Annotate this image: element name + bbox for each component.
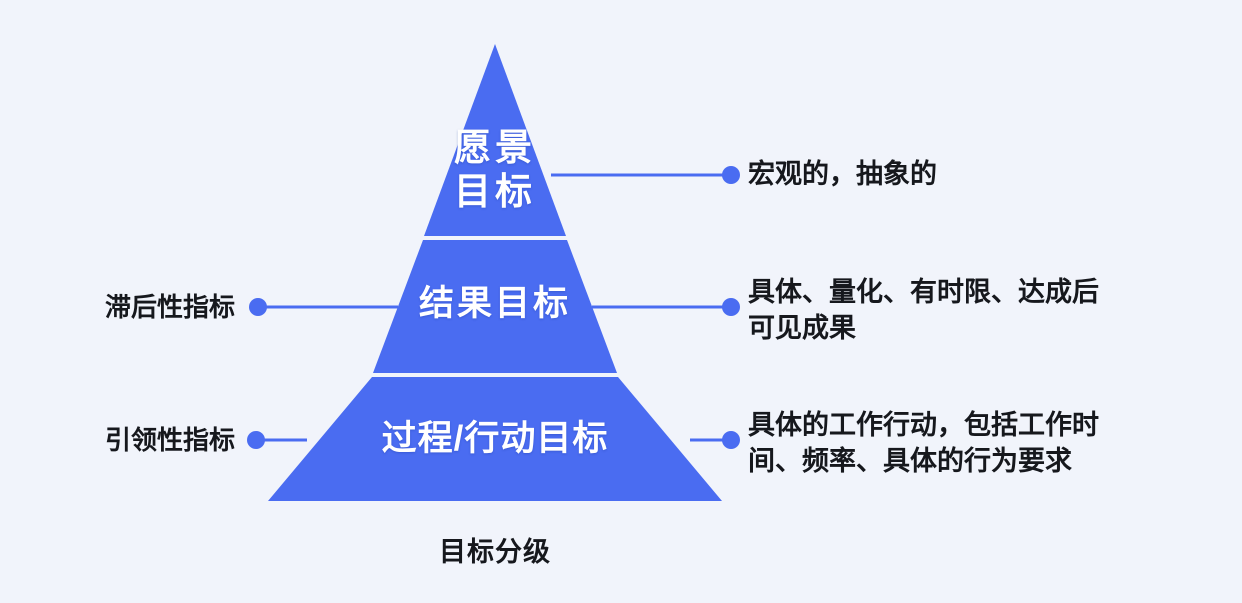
annotation-result-description: 具体、量化、有时限、达成后 可见成果 <box>748 275 1198 346</box>
connector-dot-process-right <box>722 431 740 449</box>
pyramid-tier-process[interactable] <box>268 377 722 501</box>
connector-leading-left <box>247 431 307 449</box>
connector-dot-result-right <box>722 298 740 316</box>
connector-process-right <box>690 431 740 449</box>
connector-dot-leading <box>247 431 265 449</box>
annotation-process-description: 具体的工作行动，包括工作时 间、频率、具体的行为要求 <box>748 408 1208 479</box>
pyramid-tier-result[interactable] <box>373 240 617 373</box>
connector-vision-right <box>551 166 740 184</box>
connector-lagging-left <box>249 298 398 316</box>
connector-dot-lagging <box>249 298 267 316</box>
diagram-caption: 目标分级 <box>350 530 640 569</box>
annotation-leading-indicator: 引领性指标 <box>20 423 235 457</box>
annotation-vision-description: 宏观的，抽象的 <box>748 157 1168 193</box>
diagram-canvas: 愿景 目标 结果目标 过程/行动目标 宏观的，抽象的 具体、量化、有时限、达成后… <box>0 0 1242 603</box>
connector-result-right <box>592 298 740 316</box>
annotation-lagging-indicator: 滞后性指标 <box>20 290 235 324</box>
connector-dot-vision-right <box>722 166 740 184</box>
pyramid-tier-vision[interactable] <box>424 44 566 236</box>
